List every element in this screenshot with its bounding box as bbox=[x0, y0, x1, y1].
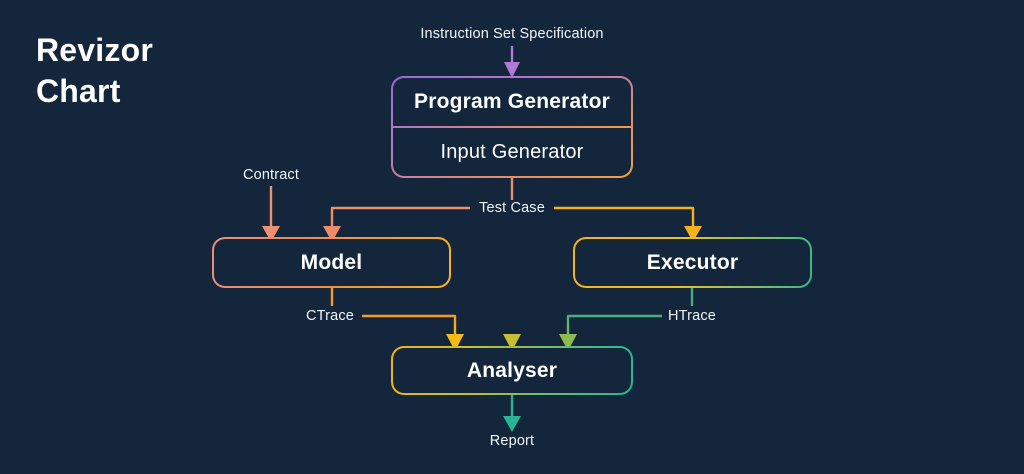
node-executor-label: Executor bbox=[575, 239, 810, 286]
wire-instruction-set-specification bbox=[504, 46, 520, 78]
node-model[interactable]: Model bbox=[212, 237, 451, 288]
node-program-generator-label: Program Generator bbox=[393, 78, 631, 126]
node-model-label: Model bbox=[214, 239, 449, 286]
label-ctrace: CTrace bbox=[306, 308, 354, 324]
label-instruction-set-specification: Instruction Set Specification bbox=[420, 26, 603, 42]
label-report: Report bbox=[490, 433, 534, 449]
page-title: Revizor Chart bbox=[36, 30, 153, 112]
wire-report bbox=[503, 395, 521, 432]
node-analyser-label: Analyser bbox=[393, 348, 631, 393]
wire-contract bbox=[262, 186, 280, 242]
connector-wires bbox=[0, 0, 1024, 474]
label-test-case: Test Case bbox=[479, 200, 545, 216]
diagram-canvas: Revizor Chart bbox=[0, 0, 1024, 474]
label-contract: Contract bbox=[243, 167, 299, 183]
node-analyser[interactable]: Analyser bbox=[391, 346, 633, 395]
wire-test-case-to-analyser bbox=[503, 218, 521, 351]
label-htrace: HTrace bbox=[668, 308, 716, 324]
node-executor[interactable]: Executor bbox=[573, 237, 812, 288]
node-input-generator-label: Input Generator bbox=[393, 128, 631, 176]
node-generator[interactable]: Program Generator Input Generator bbox=[391, 76, 633, 178]
